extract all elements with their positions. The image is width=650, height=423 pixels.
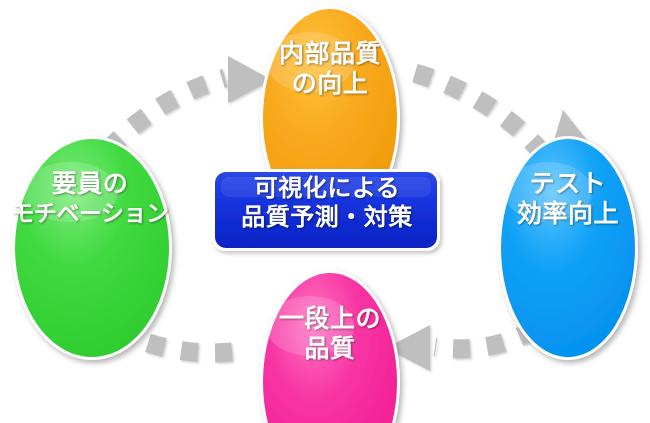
node-left[interactable] [12,136,172,360]
node-bottom[interactable] [260,270,400,423]
cycle-diagram: 内部品質 の向上 テスト 効率向上 一段上の 品質 要員の モチベーション 可視… [0,0,650,423]
center-hub-shape[interactable] [212,169,440,251]
node-right[interactable] [498,136,638,360]
cycle-diagram-canvas [0,0,650,423]
